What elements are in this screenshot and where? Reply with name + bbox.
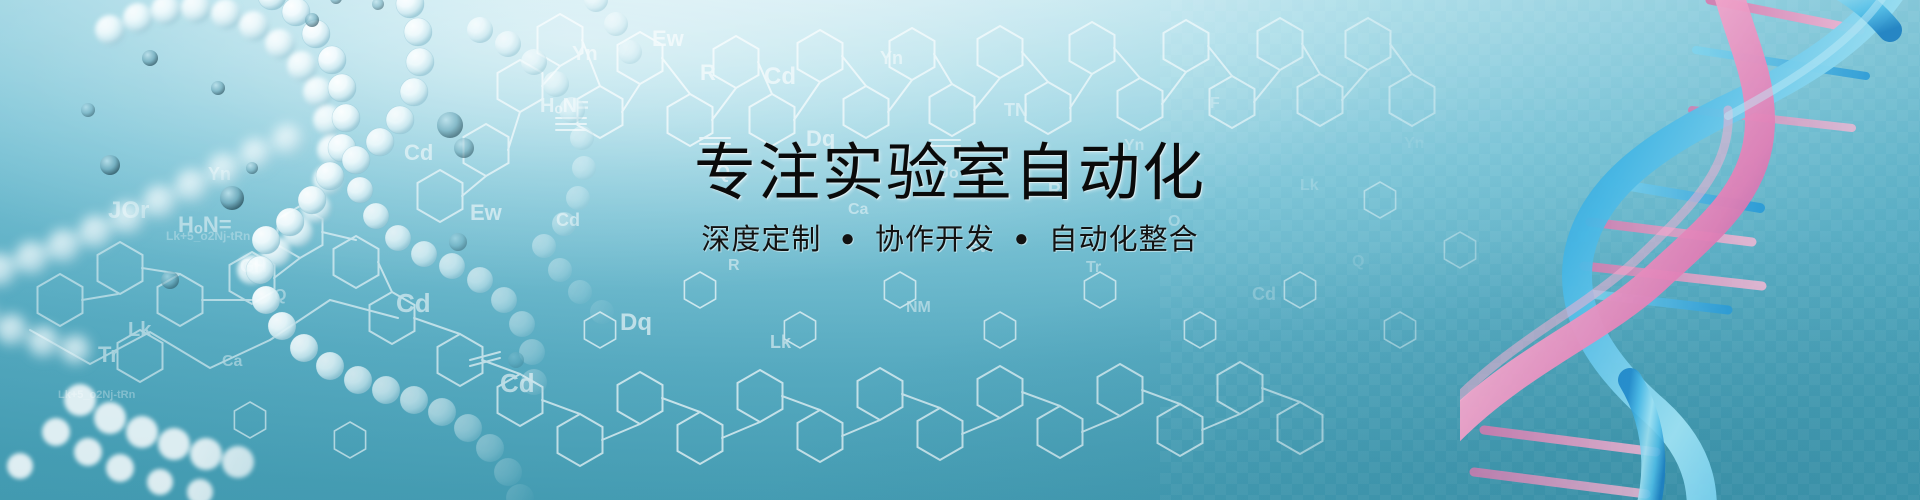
pearl-dna-helix-graphic xyxy=(0,0,700,500)
subtitle-item-2: 协作开发 xyxy=(875,224,995,256)
svg-text:TN: TN xyxy=(1004,100,1028,120)
hero-banner: Tr JOr Lk+5_o2Nj-tRn HₒN= Lk+5_o2Nj-tRn … xyxy=(0,0,1920,500)
svg-text:R: R xyxy=(728,257,740,274)
dna-double-helix-graphic xyxy=(1460,0,1920,500)
page-title: 专注实验室自动化 xyxy=(600,138,1300,210)
subtitle-item-1: 深度定制 xyxy=(701,224,821,256)
svg-text:NM: NM xyxy=(906,299,931,316)
bullet-separator-icon: ● xyxy=(840,221,856,257)
svg-text:Cd: Cd xyxy=(764,63,796,90)
svg-text:F: F xyxy=(1210,95,1220,112)
svg-text:Cd: Cd xyxy=(1252,284,1276,304)
svg-text:Lk: Lk xyxy=(770,332,792,352)
subtitle-item-3: 自动化整合 xyxy=(1049,224,1199,256)
svg-text:Lk: Lk xyxy=(1300,177,1319,194)
hero-subtitle: 深度定制 ● 协作开发 ● 自动化整合 xyxy=(600,222,1300,259)
bullet-separator-icon: ● xyxy=(1014,221,1030,257)
svg-text:R: R xyxy=(700,60,716,85)
svg-text:Yn: Yn xyxy=(880,48,903,68)
hero-text-block: 专注实验室自动化 深度定制 ● 协作开发 ● 自动化整合 xyxy=(600,138,1300,259)
svg-text:Tr: Tr xyxy=(1086,259,1101,276)
svg-text:Yn: Yn xyxy=(1404,135,1424,152)
svg-text:Q: Q xyxy=(1352,253,1364,270)
